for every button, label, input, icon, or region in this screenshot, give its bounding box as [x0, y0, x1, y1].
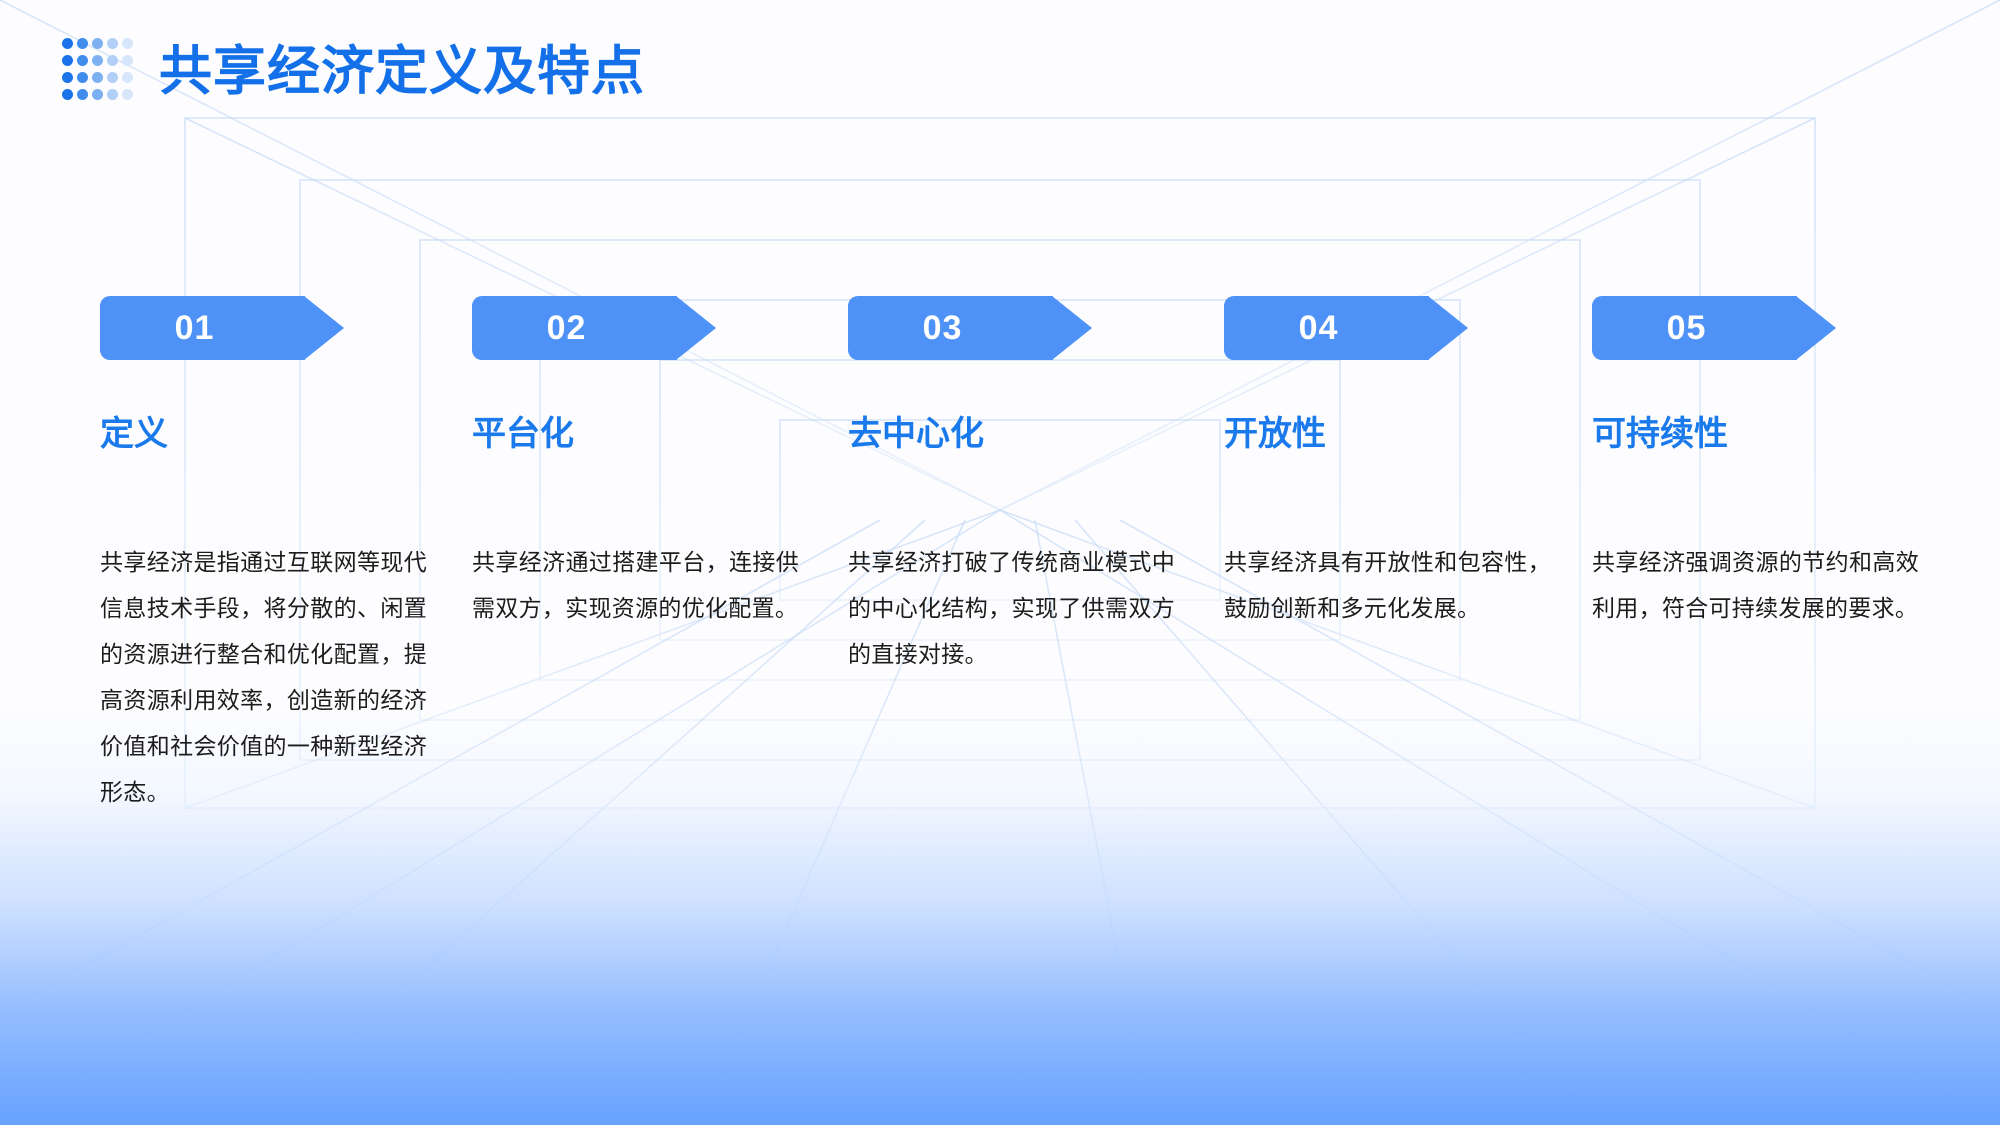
page-title: 共享经济定义及特点 — [159, 45, 645, 98]
column-body-3: 共享经济打破了传统商业模式中的中心化结构，实现了供需双方的直接对接。 — [848, 539, 1175, 677]
column-body-1: 共享经济是指通过互联网等现代信息技术手段，将分散的、闲置的资源进行整合和优化配置… — [100, 539, 427, 815]
column-heading-5: 可持续性 — [1592, 414, 1892, 455]
slide-canvas: 共享经济定义及特点 01 定义 共享经济是指通过互联网等现代信息技术手段，将分散… — [0, 0, 2000, 1125]
column-heading-1: 定义 — [100, 414, 400, 455]
number-badge-02: 02 — [472, 296, 677, 360]
dot-grid-icon — [62, 38, 137, 106]
slide-header: 共享经济定义及特点 — [62, 36, 645, 106]
number-badge-01: 01 — [100, 296, 305, 360]
column-body-4: 共享经济具有开放性和包容性，鼓励创新和多元化发展。 — [1224, 539, 1551, 631]
column-heading-2: 平台化 — [472, 414, 772, 455]
feature-column-4: 04 开放性 共享经济具有开放性和包容性，鼓励创新和多元化发展。 — [1224, 296, 1524, 631]
feature-column-1: 01 定义 共享经济是指通过互联网等现代信息技术手段，将分散的、闲置的资源进行整… — [100, 296, 400, 815]
feature-column-2: 02 平台化 共享经济通过搭建平台，连接供需双方，实现资源的优化配置。 — [472, 296, 772, 631]
column-body-5: 共享经济强调资源的节约和高效利用，符合可持续发展的要求。 — [1592, 539, 1919, 631]
feature-column-5: 05 可持续性 共享经济强调资源的节约和高效利用，符合可持续发展的要求。 — [1592, 296, 1892, 631]
number-badge-04: 04 — [1224, 296, 1429, 360]
feature-column-3: 03 去中心化 共享经济打破了传统商业模式中的中心化结构，实现了供需双方的直接对… — [848, 296, 1148, 677]
column-body-2: 共享经济通过搭建平台，连接供需双方，实现资源的优化配置。 — [472, 539, 799, 631]
column-heading-4: 开放性 — [1224, 414, 1524, 455]
content-columns: 01 定义 共享经济是指通过互联网等现代信息技术手段，将分散的、闲置的资源进行整… — [0, 0, 2000, 1125]
column-heading-3: 去中心化 — [848, 414, 1148, 455]
number-badge-05: 05 — [1592, 296, 1797, 360]
number-badge-03: 03 — [848, 296, 1053, 360]
